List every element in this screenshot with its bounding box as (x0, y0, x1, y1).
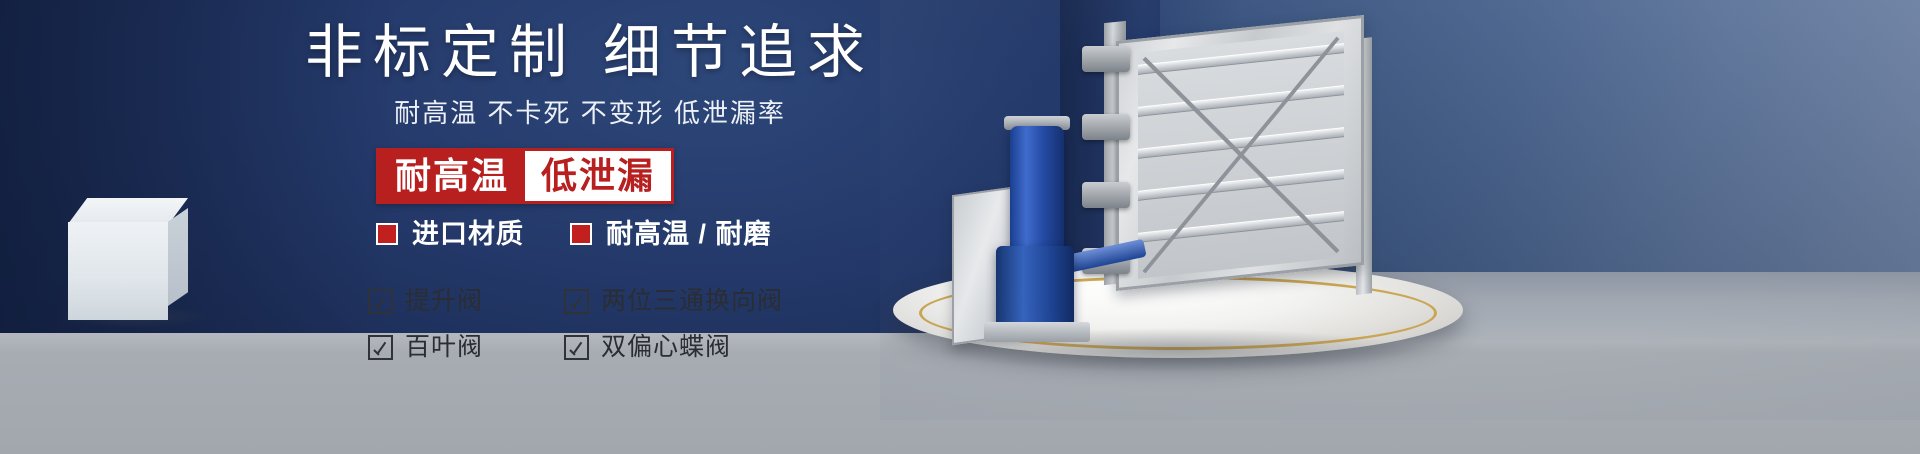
badge-primary-label: 耐高温 (379, 151, 525, 201)
headline: 非标定制 细节追求 (280, 18, 900, 88)
checkbox-checked-icon (564, 289, 589, 314)
damper-cross-brace (1140, 33, 1342, 276)
damper-brace-svg (1140, 33, 1342, 276)
bullet-label: 耐高温 / 耐磨 (606, 218, 772, 250)
subheadline: 耐高温 不卡死 不变形 低泄漏率 (300, 96, 880, 130)
checklist-item: 提升阀 (368, 286, 538, 316)
pneumatic-actuator (988, 126, 1096, 348)
bullet-row: 进口材质 耐高温 / 耐磨 (376, 218, 772, 250)
red-square-icon (376, 223, 398, 245)
checklist-label: 百叶阀 (405, 332, 483, 362)
damper-hinge (1082, 46, 1130, 72)
badge-secondary-label: 低泄漏 (525, 151, 671, 201)
checklist-label: 双偏心蝶阀 (601, 332, 731, 362)
checklist-item: 两位三通换向阀 (564, 286, 783, 316)
product-checklist: 提升阀 两位三通换向阀 百叶阀 双偏心蝶阀 (368, 286, 783, 362)
cube-top-face (68, 198, 188, 224)
checkbox-checked-icon (368, 335, 393, 360)
feature-badge: 耐高温 低泄漏 (376, 148, 674, 204)
checklist-item: 百叶阀 (368, 332, 538, 362)
bullet-item: 进口材质 (376, 218, 524, 250)
white-cube-prop (68, 198, 188, 320)
cube-front-face (68, 222, 168, 320)
actuator-base (984, 322, 1090, 342)
bullet-label: 进口材质 (412, 218, 524, 250)
promo-banner: 非标定制 细节追求 耐高温 不卡死 不变形 低泄漏率 耐高温 低泄漏 进口材质 … (0, 0, 1920, 454)
red-square-icon (570, 223, 592, 245)
industrial-damper-valve (1064, 18, 1406, 318)
checkbox-checked-icon (368, 289, 393, 314)
checklist-item: 双偏心蝶阀 (564, 332, 783, 362)
checklist-label: 提升阀 (405, 286, 483, 316)
cube-side-face (168, 208, 188, 306)
bullet-item: 耐高温 / 耐磨 (570, 218, 772, 250)
actuator-cylinder-lower (996, 246, 1074, 332)
checkbox-checked-icon (564, 335, 589, 360)
checklist-label: 两位三通换向阀 (601, 286, 783, 316)
